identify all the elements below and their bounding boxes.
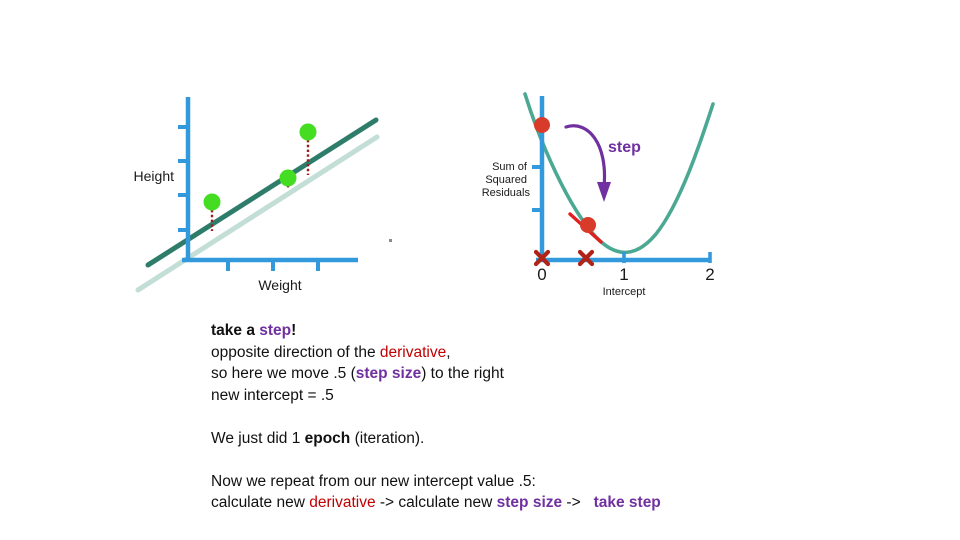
ssr-curve [525, 94, 713, 252]
line3-part3: ) to the right [421, 365, 504, 382]
step-arrow [566, 126, 605, 187]
current-fit-line [148, 120, 376, 265]
line2-derivative-keyword: derivative [380, 344, 446, 361]
text-spacer-1 [211, 406, 911, 428]
line1-part3: ! [291, 322, 296, 339]
text-line-5: We just did 1 epoch (iteration). [211, 428, 911, 450]
data-point [280, 170, 297, 187]
data-point [300, 124, 317, 141]
text-line-2: opposite direction of the derivative, [211, 342, 911, 364]
line2-part3: , [446, 344, 450, 361]
previous-fit-line [138, 137, 377, 290]
line3-step-size-keyword: step size [356, 365, 421, 382]
ssr-curve-chart: step Sum of Squared Residuals 0 1 2 Inte… [468, 82, 738, 302]
line2-part1: opposite direction of the [211, 344, 380, 361]
text-line-1: take a step! [211, 320, 911, 342]
line3-part1: so here we move .5 ( [211, 365, 356, 382]
right-chart-x-label: Intercept [603, 286, 646, 298]
x-tick-label-0: 0 [537, 265, 546, 284]
text-line-6: Now we repeat from our new intercept val… [211, 471, 911, 493]
line5-part1: We just did 1 [211, 430, 305, 447]
y-label-line-3: Residuals [482, 187, 531, 199]
charts-row: Height Weight step [0, 0, 960, 310]
line1-part1: take a [211, 322, 259, 339]
line7-step-size-keyword: step size [497, 494, 562, 511]
step-arrow-head [597, 182, 611, 202]
y-label-line-2: Squared [485, 174, 527, 186]
line7-part1: calculate new [211, 494, 309, 511]
text-line-3: so here we move .5 (step size) to the ri… [211, 363, 911, 385]
line7-take-step-keyword: take step [594, 494, 661, 511]
text-line-7: calculate new derivative -> calculate ne… [211, 492, 911, 514]
line7-part5: -> [562, 494, 593, 511]
line7-part3: -> calculate new [376, 494, 497, 511]
line5-epoch-keyword: epoch [305, 430, 351, 447]
text-line-4: new intercept = .5 [211, 385, 911, 407]
ssr-point-new [580, 217, 596, 233]
explanation-text-block: take a step! opposite direction of the d… [211, 320, 911, 514]
ssr-point-start [534, 117, 550, 133]
x-tick-label-2: 2 [705, 265, 714, 284]
line7-derivative-keyword: derivative [309, 494, 375, 511]
text-spacer-2 [211, 449, 911, 471]
stray-dot-artifact [389, 239, 392, 242]
left-chart-x-label: Weight [258, 277, 301, 293]
right-chart-y-label: Sum of Squared Residuals [482, 161, 531, 199]
line1-step-keyword: step [259, 322, 291, 339]
line5-part3: (iteration). [350, 430, 424, 447]
y-label-line-1: Sum of [492, 161, 528, 173]
x-tick-label-1: 1 [619, 265, 628, 284]
data-point [204, 194, 221, 211]
left-chart-y-label: Height [134, 168, 175, 184]
step-annotation-label: step [608, 139, 641, 156]
linear-regression-chart: Height Weight [130, 85, 390, 300]
